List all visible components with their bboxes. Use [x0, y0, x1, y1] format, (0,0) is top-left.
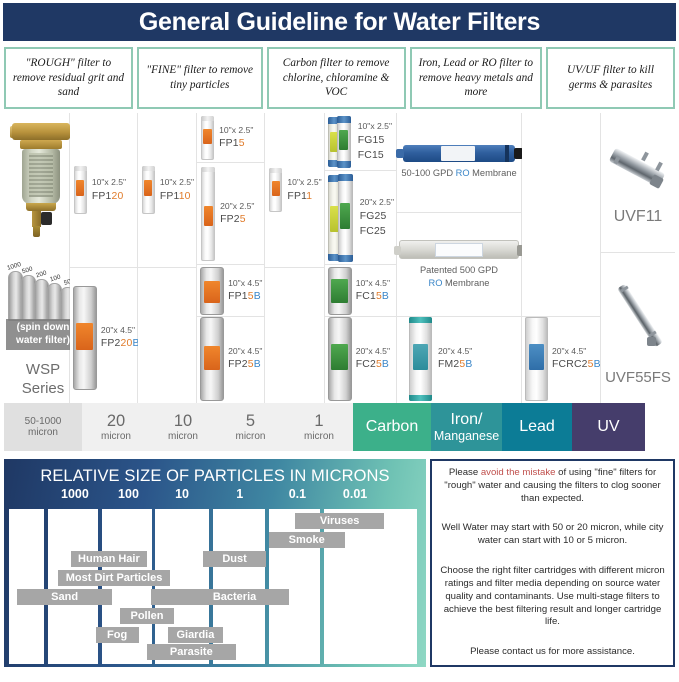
- cartridge-fp25b-image: [200, 317, 224, 401]
- size-text: 20"x 4.5": [552, 345, 601, 357]
- micron-value: 20: [107, 412, 125, 430]
- ro-caption-line2: RO Membrane: [420, 277, 498, 290]
- size-text: 10"x 4.5": [228, 277, 262, 289]
- axis-tick-label: 10: [175, 487, 189, 501]
- micron-unit: micron: [28, 427, 58, 438]
- particle-bar: Pollen: [120, 608, 174, 624]
- axis-tick-label: 0.1: [289, 487, 306, 501]
- particle-bar: Parasite: [147, 644, 236, 660]
- cartridge-fm25b-image: [409, 317, 432, 401]
- uvf55fs-model-label: UVF55FS: [605, 369, 671, 386]
- micron-cell-10: 10 micron: [150, 403, 216, 451]
- particle-bar: Most Dirt Particles: [58, 570, 169, 586]
- column-ro-iron: 50-100 GPD RO Membrane Patented 500 GPD …: [397, 113, 522, 403]
- description-text: Iron, Lead or RO filter to remove heavy …: [416, 56, 536, 101]
- micron-unit: micron: [101, 431, 131, 442]
- cell-fm25b: 20"x 4.5" FM25B: [397, 317, 521, 403]
- cartridge-fp25-image: [201, 167, 215, 261]
- particle-bar: Human Hair: [71, 551, 147, 567]
- size-text: 10"x 2.5": [358, 120, 392, 132]
- cell-fcrc25b: 20"x 4.5" FCRC25B: [522, 317, 600, 403]
- spec-fp110: 10"x 2.5" FP110: [160, 176, 194, 204]
- size-text: 20"x 4.5": [228, 345, 262, 357]
- spec-fp15: 10"x 2.5" FP15: [219, 124, 253, 152]
- micron-value: 10: [174, 412, 192, 430]
- column-1-micron: 10"x 2.5" FP11: [265, 113, 324, 403]
- spin-down-filter-image: [10, 117, 72, 242]
- column-20-micron: 10"x 2.5" FP120 20"x 4.5" FP220B: [70, 113, 138, 403]
- description-box-rough: "ROUGH" filter to remove residual grit a…: [4, 47, 133, 109]
- size-text: 20"x 4.5": [438, 345, 473, 357]
- column-10-micron: 10"x 2.5" FP110: [138, 113, 197, 403]
- screen-number: 200: [35, 270, 47, 280]
- description-text: "ROUGH" filter to remove residual grit a…: [10, 56, 127, 101]
- description-text: "FINE" filter to remove tiny particles: [143, 63, 257, 93]
- category-label: Iron/: [450, 411, 482, 429]
- model-text: FP15: [219, 136, 253, 151]
- cartridge-fp11-image: [269, 168, 282, 212]
- ro-caption-line1: Patented 500 GPD: [420, 264, 498, 277]
- micron-cell-wsp: 50-1000 micron: [4, 403, 82, 451]
- particle-bar: Sand: [17, 589, 112, 605]
- model-text: FP15B: [228, 289, 262, 304]
- ro-membrane-500-caption: Patented 500 GPD RO Membrane: [420, 264, 498, 289]
- description-box-uv: UV/UF filter to kill germs & parasites: [546, 47, 675, 109]
- particle-bar: Viruses: [295, 513, 384, 529]
- spec-fm25b: 20"x 4.5" FM25B: [438, 345, 473, 373]
- micron-cell-lead: Lead: [502, 403, 572, 451]
- micron-unit: micron: [235, 431, 265, 442]
- micron-cell-5: 5 micron: [216, 403, 285, 451]
- model-text: FC25B: [356, 357, 390, 372]
- model-text: FP110: [160, 189, 194, 204]
- header-description-row: "ROUGH" filter to remove residual grit a…: [4, 47, 675, 109]
- uv-lamp-uvf11-image: [603, 146, 675, 206]
- micron-value: 1: [314, 412, 323, 430]
- ro-membrane-500-image: [399, 240, 519, 259]
- description-text: UV/UF filter to kill germs & parasites: [552, 63, 669, 93]
- spec-fp11: 10"x 2.5" FP11: [287, 176, 321, 204]
- spec-fp220b: 20"x 4.5" FP220B: [101, 324, 140, 352]
- spec-fp25: 20"x 2.5" FP25: [220, 200, 254, 228]
- category-sublabel: Manganese: [434, 429, 499, 443]
- model-text-1: FG15: [358, 133, 392, 148]
- spec-fp120: 10"x 2.5" FP120: [92, 176, 126, 204]
- size-text: 20"x 2.5": [220, 200, 254, 212]
- model-text: FP25: [220, 212, 254, 227]
- micron-value: 5: [246, 412, 255, 430]
- column-uv: UVF11 UVF55FS: [601, 113, 675, 403]
- size-text: 20"x 2.5": [360, 196, 394, 208]
- cell-fp15: 10"x 2.5" FP15: [197, 113, 264, 163]
- particle-bar: [151, 589, 180, 605]
- ro-membrane-caption: 50-100 GPD RO Membrane: [401, 167, 516, 180]
- note-paragraph-3: Choose the right filter cartridges with …: [439, 565, 666, 629]
- chart-column-band: [9, 509, 44, 664]
- cell-fp220b: 20"x 4.5" FP220B: [70, 268, 137, 403]
- cartridge-fp120-image: [74, 166, 87, 214]
- category-label: Lead: [519, 418, 555, 436]
- cell-fp11: 10"x 2.5" FP11: [265, 113, 323, 268]
- cartridge-fc25b-image: [328, 317, 352, 401]
- chart-title: RELATIVE SIZE OF PARTICLES IN MICRONS: [9, 463, 421, 487]
- uvf11-model-label: UVF11: [614, 208, 663, 226]
- spec-fc15b: 10"x 4.5" FC15B: [356, 277, 390, 305]
- micron-footer-row: 50-1000 micron 20 micron 10 micron 5 mic…: [4, 403, 675, 451]
- page-title: General Guideline for Water Filters: [139, 8, 540, 37]
- spec-fc25b: 20"x 4.5" FC25B: [356, 345, 390, 373]
- uv-lamp-uvf55fs-image: [603, 275, 677, 367]
- axis-tick-label: 0.01: [343, 487, 367, 501]
- micron-cell-uv: UV: [572, 403, 645, 451]
- chart-column-band: [48, 509, 98, 664]
- cell-empty-lead: [522, 113, 600, 317]
- cell-fp120: 10"x 2.5" FP120: [70, 113, 137, 268]
- cartridge-fp15-image: [201, 116, 214, 160]
- model-text: FP120: [92, 189, 126, 204]
- size-text: 10"x 2.5": [287, 176, 321, 188]
- description-box-metals: Iron, Lead or RO filter to remove heavy …: [410, 47, 542, 109]
- cartridge-fp15b-image: [200, 267, 224, 315]
- bottom-section: RELATIVE SIZE OF PARTICLES IN MICRONS 10…: [4, 459, 675, 667]
- model-text-2: FC15: [358, 148, 392, 163]
- size-text: 10"x 4.5": [356, 277, 390, 289]
- cartridge-fg25-fc25-image: [328, 174, 354, 262]
- size-text: 20"x 4.5": [101, 324, 140, 336]
- description-box-carbon: Carbon filter to remove chlorine, chlora…: [267, 47, 406, 109]
- cartridge-fc15b-image: [328, 267, 352, 315]
- cell-uvf55fs: UVF55FS: [601, 253, 675, 403]
- spec-fp25b: 20"x 4.5" FP25B: [228, 345, 262, 373]
- spec-fg15-fc15: 10"x 2.5" FG15 FC15: [358, 120, 392, 163]
- mesh-screens-image: 1000 500 200 100 50: [6, 263, 78, 321]
- size-text: 10"x 2.5": [92, 176, 126, 188]
- cartridge-fg15-fc15-image: [328, 116, 352, 168]
- screen-number: 500: [21, 266, 33, 276]
- cartridge-fcrc25b-image: [525, 317, 548, 401]
- page-title-bar: General Guideline for Water Filters: [3, 3, 676, 41]
- model-text: FCRC25B: [552, 357, 601, 372]
- cartridge-fp110-image: [142, 166, 155, 214]
- note-paragraph-2: Well Water may start with 50 or 20 micro…: [439, 522, 666, 548]
- note-paragraph-4: Please contact us for more assistance.: [439, 646, 666, 659]
- cell-ro-membrane-500: Patented 500 GPD RO Membrane: [397, 213, 521, 317]
- note-paragraph-1: Please avoid the mistake of using "fine"…: [439, 467, 666, 506]
- cell-empty-1: [265, 268, 323, 403]
- particle-bar: Bacteria: [180, 589, 289, 605]
- cell-fp25: 20"x 2.5" FP25: [197, 163, 264, 265]
- cell-empty-10: [138, 268, 196, 403]
- particle-bar: Dust: [203, 551, 267, 567]
- cell-uvf11: UVF11: [601, 113, 675, 253]
- model-text-2: FC25: [360, 224, 394, 239]
- product-grid: 1000 500 200 100 50 (spin down water fil…: [4, 113, 675, 403]
- model-text: FM25B: [438, 357, 473, 372]
- category-label: UV: [597, 418, 619, 436]
- particle-bar: Giardia: [168, 627, 224, 643]
- particle-bar: Fog: [96, 627, 139, 643]
- column-spin-down: 1000 500 200 100 50 (spin down water fil…: [4, 113, 70, 403]
- description-box-fine: "FINE" filter to remove tiny particles: [137, 47, 263, 109]
- cell-fg15-fc15: 10"x 2.5" FG15 FC15: [325, 113, 396, 171]
- chart-plot-area: VirusesSmokeHuman HairDustMost Dirt Part…: [9, 509, 421, 664]
- particle-size-chart: RELATIVE SIZE OF PARTICLES IN MICRONS 10…: [4, 459, 426, 667]
- micron-cell-iron: Iron/ Manganese: [431, 403, 502, 451]
- cartridge-fp220b-image: [73, 286, 97, 390]
- micron-unit: micron: [304, 431, 334, 442]
- cell-fp15b: 10"x 4.5" FP15B: [197, 265, 264, 317]
- model-text-1: FG25: [360, 209, 394, 224]
- cell-ro-membrane-50-100: 50-100 GPD RO Membrane: [397, 113, 521, 213]
- category-label: Carbon: [366, 418, 418, 436]
- spec-fp15b: 10"x 4.5" FP15B: [228, 277, 262, 305]
- axis-tick-label: 1: [236, 487, 243, 501]
- column-lead: 20"x 4.5" FCRC25B: [522, 113, 601, 403]
- micron-range: 50-1000: [25, 416, 62, 427]
- particle-bar: Smoke: [269, 532, 345, 548]
- notes-panel: Please avoid the mistake of using "fine"…: [430, 459, 675, 667]
- axis-tick-label: 1000: [61, 487, 89, 501]
- model-text: FP25B: [228, 357, 262, 372]
- model-text: FP11: [287, 189, 321, 204]
- chart-axis-ticks: 10001001010.10.01: [9, 487, 421, 507]
- spec-fg25-fc25: 20"x 2.5" FG25 FC25: [360, 196, 394, 239]
- size-text: 10"x 2.5": [160, 176, 194, 188]
- micron-unit: micron: [168, 431, 198, 442]
- cell-fp110: 10"x 2.5" FP110: [138, 113, 196, 268]
- model-text: FC15B: [356, 289, 390, 304]
- ro-membrane-image: [403, 145, 515, 162]
- description-text: Carbon filter to remove chlorine, chlora…: [273, 56, 400, 101]
- micron-cell-1: 1 micron: [285, 403, 353, 451]
- axis-tick-label: 100: [118, 487, 139, 501]
- column-carbon: 10"x 2.5" FG15 FC15 20"x 2.5" FG25 FC25: [325, 113, 397, 403]
- size-text: 10"x 2.5": [219, 124, 253, 136]
- spec-fcrc25b: 20"x 4.5" FCRC25B: [552, 345, 601, 373]
- size-text: 20"x 4.5": [356, 345, 390, 357]
- cell-fg25-fc25: 20"x 2.5" FG25 FC25: [325, 171, 396, 265]
- micron-cell-20: 20 micron: [82, 403, 150, 451]
- column-5-micron: 10"x 2.5" FP15 20"x 2.5" FP25 10"x 4.5" …: [197, 113, 265, 403]
- micron-cell-carbon: Carbon: [353, 403, 431, 451]
- model-text: FP220B: [101, 336, 140, 351]
- screen-number: 100: [49, 274, 61, 284]
- cell-fc15b: 10"x 4.5" FC15B: [325, 265, 396, 317]
- cell-fp25b: 20"x 4.5" FP25B: [197, 317, 264, 403]
- cell-fc25b: 20"x 4.5" FC25B: [325, 317, 396, 403]
